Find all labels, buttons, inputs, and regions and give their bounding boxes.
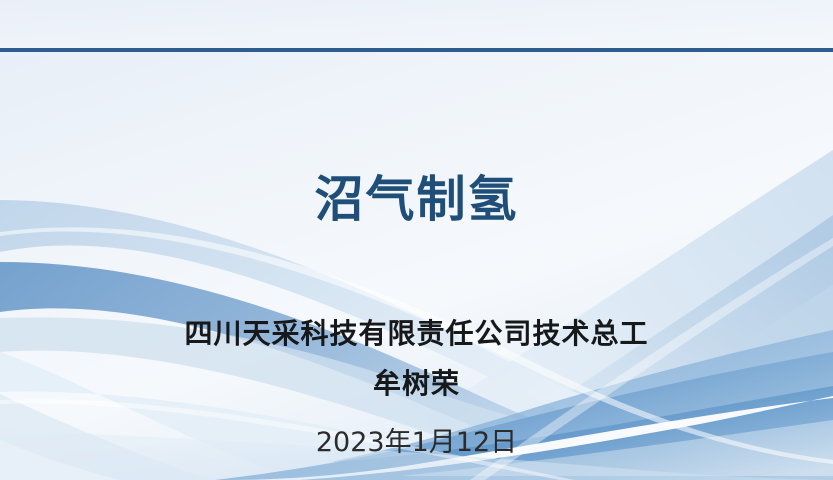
slide-date: 2023年1月12日 — [0, 420, 833, 459]
slide-presenter-name: 牟树荣 — [0, 362, 833, 402]
title-slide: 沼气制氢 四川天采科技有限责任公司技术总工 牟树荣 2023年1月12日 — [0, 0, 833, 480]
header-divider-rule — [0, 48, 833, 52]
slide-subtitle-affiliation: 四川天采科技有限责任公司技术总工 — [0, 312, 833, 352]
slide-title: 沼气制氢 — [0, 160, 833, 231]
abstract-blue-wave-background — [0, 0, 833, 480]
